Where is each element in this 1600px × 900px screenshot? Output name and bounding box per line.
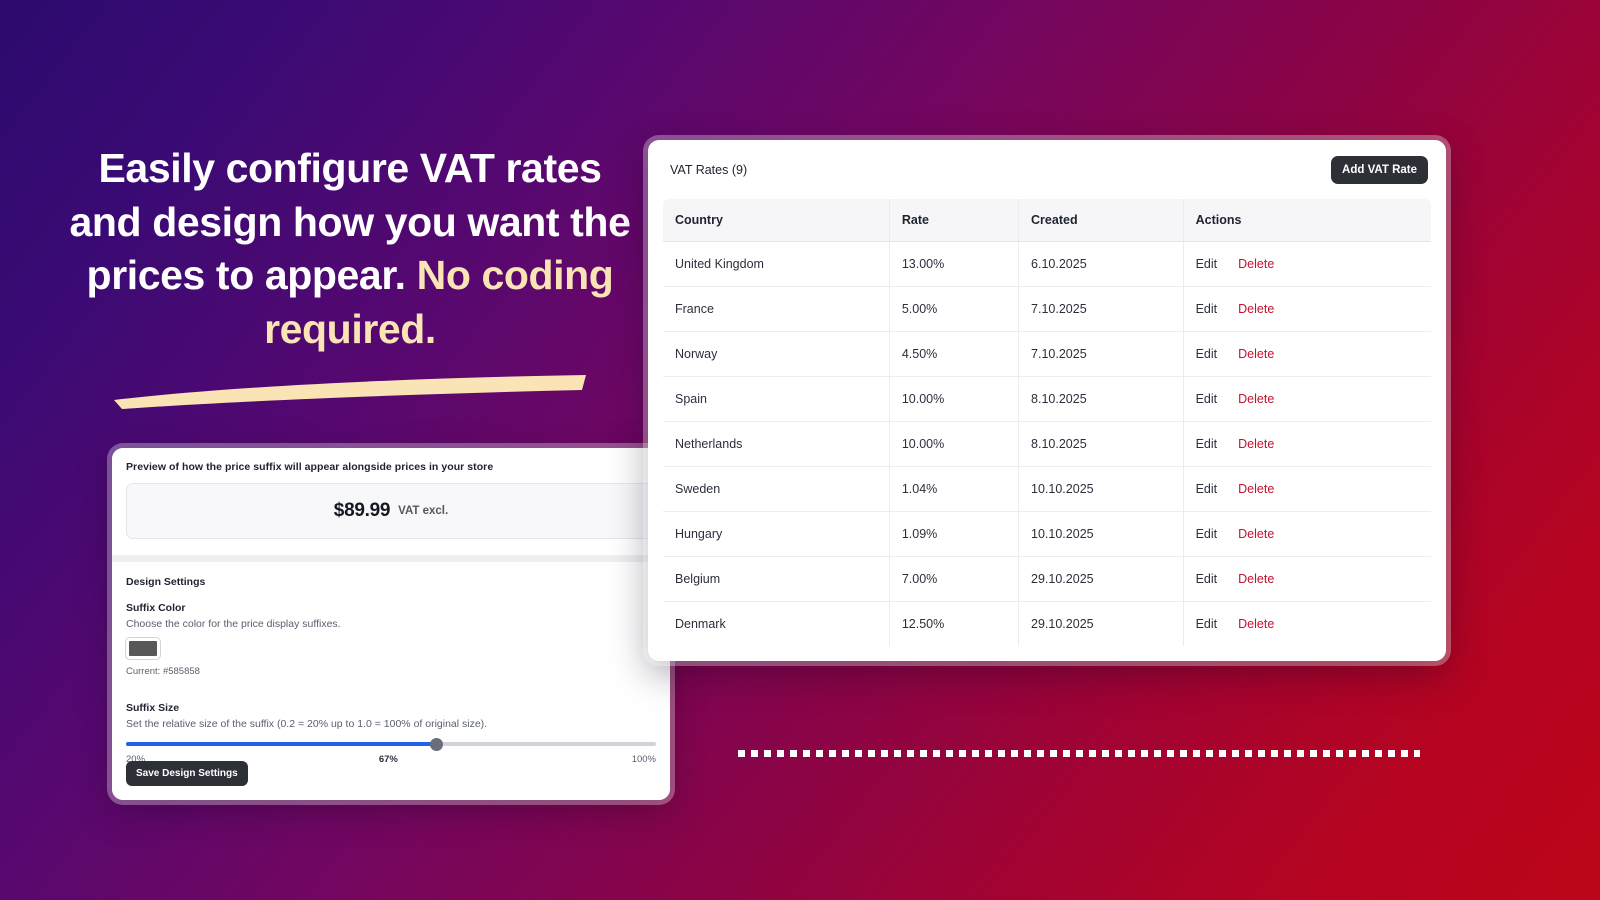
edit-link[interactable]: Edit: [1196, 437, 1218, 451]
cell-country: Denmark: [663, 602, 890, 647]
cell-rate: 7.00%: [889, 557, 1018, 602]
cell-actions: EditDelete: [1183, 332, 1431, 377]
table-row: Spain10.00%8.10.2025EditDelete: [663, 377, 1432, 422]
cell-rate: 10.00%: [889, 377, 1018, 422]
column-header-created[interactable]: Created: [1019, 199, 1184, 242]
cell-country: Sweden: [663, 467, 890, 512]
preview-caption: Preview of how the price suffix will app…: [126, 461, 656, 473]
cell-country: Hungary: [663, 512, 890, 557]
headline-accent-1: No: [417, 252, 471, 298]
cell-created: 7.10.2025: [1019, 332, 1184, 377]
delete-link[interactable]: Delete: [1238, 572, 1274, 586]
suffix-size-help: Set the relative size of the suffix (0.2…: [126, 718, 656, 730]
cell-actions: EditDelete: [1183, 377, 1431, 422]
cell-actions: EditDelete: [1183, 467, 1431, 512]
delete-link[interactable]: Delete: [1238, 527, 1274, 541]
page-title: Easily configure VAT rates and design ho…: [60, 142, 640, 357]
cell-created: 8.10.2025: [1019, 422, 1184, 467]
delete-link[interactable]: Delete: [1238, 617, 1274, 631]
suffix-color-label: Suffix Color: [126, 602, 656, 614]
cell-country: Norway: [663, 332, 890, 377]
cell-created: 7.10.2025: [1019, 287, 1184, 332]
design-settings-card: Design Settings Suffix Color Choose the …: [112, 562, 670, 800]
edit-link[interactable]: Edit: [1196, 617, 1218, 631]
suffix-color-current-value: Current: #585858: [126, 666, 656, 677]
slider-thumb[interactable]: [430, 738, 443, 751]
slider-fill: [126, 742, 437, 746]
cell-rate: 5.00%: [889, 287, 1018, 332]
vat-table-body: United Kingdom13.00%6.10.2025EditDeleteF…: [663, 242, 1432, 647]
suffix-color-swatch[interactable]: [126, 638, 160, 659]
cell-country: Netherlands: [663, 422, 890, 467]
cell-rate: 1.09%: [889, 512, 1018, 557]
table-row: Denmark12.50%29.10.2025EditDelete: [663, 602, 1432, 647]
cell-country: Belgium: [663, 557, 890, 602]
column-header-country[interactable]: Country: [663, 199, 890, 242]
cell-rate: 1.04%: [889, 467, 1018, 512]
edit-link[interactable]: Edit: [1196, 392, 1218, 406]
cell-created: 29.10.2025: [1019, 557, 1184, 602]
save-design-settings-button[interactable]: Save Design Settings: [126, 761, 248, 786]
slider-value-label: 67%: [379, 754, 398, 765]
cell-actions: EditDelete: [1183, 422, 1431, 467]
cell-actions: EditDelete: [1183, 512, 1431, 557]
cell-actions: EditDelete: [1183, 287, 1431, 332]
table-row: France5.00%7.10.2025EditDelete: [663, 287, 1432, 332]
price-preview-box: $89.99 VAT excl.: [126, 483, 656, 539]
cell-created: 6.10.2025: [1019, 242, 1184, 287]
cell-rate: 13.00%: [889, 242, 1018, 287]
cell-rate: 4.50%: [889, 332, 1018, 377]
table-row: Netherlands10.00%8.10.2025EditDelete: [663, 422, 1432, 467]
cell-rate: 12.50%: [889, 602, 1018, 647]
preview-price-value: $89.99: [334, 500, 390, 522]
dotted-divider-icon: [738, 750, 1420, 757]
edit-link[interactable]: Edit: [1196, 347, 1218, 361]
edit-link[interactable]: Edit: [1196, 302, 1218, 316]
table-row: Norway4.50%7.10.2025EditDelete: [663, 332, 1432, 377]
suffix-color-help: Choose the color for the price display s…: [126, 618, 656, 630]
cell-created: 10.10.2025: [1019, 512, 1184, 557]
promo-banner: Easily configure VAT rates and design ho…: [0, 0, 1600, 900]
suffix-size-slider[interactable]: [126, 742, 656, 746]
vat-rates-header: VAT Rates (9) Add VAT Rate: [662, 156, 1432, 184]
table-row: Sweden1.04%10.10.2025EditDelete: [663, 467, 1432, 512]
cell-actions: EditDelete: [1183, 602, 1431, 647]
cell-created: 29.10.2025: [1019, 602, 1184, 647]
suffix-size-field: Suffix Size Set the relative size of the…: [126, 702, 656, 765]
add-vat-rate-button[interactable]: Add VAT Rate: [1331, 156, 1428, 184]
delete-link[interactable]: Delete: [1238, 347, 1274, 361]
slider-max-label: 100%: [632, 754, 656, 765]
delete-link[interactable]: Delete: [1238, 302, 1274, 316]
delete-link[interactable]: Delete: [1238, 257, 1274, 271]
vat-rates-title: VAT Rates (9): [670, 163, 747, 177]
preview-price-suffix: VAT excl.: [398, 505, 448, 517]
cell-actions: EditDelete: [1183, 557, 1431, 602]
table-row: United Kingdom13.00%6.10.2025EditDelete: [663, 242, 1432, 287]
cell-rate: 10.00%: [889, 422, 1018, 467]
headline-line-1: Easily configure VAT rates: [98, 145, 601, 191]
design-settings-panel: Preview of how the price suffix will app…: [112, 448, 670, 800]
delete-link[interactable]: Delete: [1238, 437, 1274, 451]
edit-link[interactable]: Edit: [1196, 482, 1218, 496]
cell-country: United Kingdom: [663, 242, 890, 287]
table-row: Hungary1.09%10.10.2025EditDelete: [663, 512, 1432, 557]
cell-created: 8.10.2025: [1019, 377, 1184, 422]
headline-line-2: and design how you want: [70, 199, 560, 245]
design-settings-heading: Design Settings: [126, 576, 656, 588]
price-preview-card: Preview of how the price suffix will app…: [112, 448, 670, 555]
delete-link[interactable]: Delete: [1238, 392, 1274, 406]
vat-rates-table: Country Rate Created Actions United King…: [662, 198, 1432, 647]
suffix-size-label: Suffix Size: [126, 702, 656, 714]
vat-rates-card: VAT Rates (9) Add VAT Rate Country Rate …: [648, 140, 1446, 661]
table-row: Belgium7.00%29.10.2025EditDelete: [663, 557, 1432, 602]
cell-actions: EditDelete: [1183, 242, 1431, 287]
delete-link[interactable]: Delete: [1238, 482, 1274, 496]
swoosh-underline-icon: [112, 368, 590, 410]
table-header-row: Country Rate Created Actions: [663, 199, 1432, 242]
edit-link[interactable]: Edit: [1196, 572, 1218, 586]
cell-created: 10.10.2025: [1019, 467, 1184, 512]
cell-country: Spain: [663, 377, 890, 422]
column-header-rate[interactable]: Rate: [889, 199, 1018, 242]
column-header-actions: Actions: [1183, 199, 1431, 242]
suffix-color-field: Suffix Color Choose the color for the pr…: [126, 602, 656, 677]
vat-table-head: Country Rate Created Actions: [663, 199, 1432, 242]
edit-link[interactable]: Edit: [1196, 527, 1218, 541]
cell-country: France: [663, 287, 890, 332]
edit-link[interactable]: Edit: [1196, 257, 1218, 271]
